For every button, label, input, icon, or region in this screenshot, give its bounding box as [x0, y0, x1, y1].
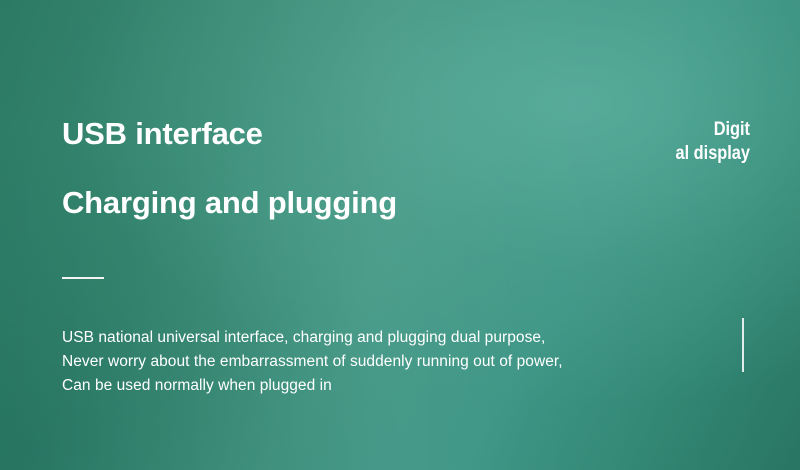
vertical-accent-rule — [742, 318, 744, 372]
body-copy-line-1: USB national universal interface, chargi… — [62, 326, 722, 350]
corner-label-line-1: Digit — [638, 118, 750, 142]
headline-group: USB interface Charging and plugging — [62, 118, 397, 218]
headline-secondary: Charging and plugging — [62, 187, 397, 218]
page-title: USB interface — [62, 118, 397, 149]
horizontal-divider — [62, 277, 104, 279]
body-copy: USB national universal interface, chargi… — [62, 326, 722, 398]
body-copy-line-3: Can be used normally when plugged in — [62, 374, 722, 398]
corner-label-line-2: al display — [638, 142, 750, 166]
product-banner: USB interface Charging and plugging Digi… — [0, 0, 800, 470]
body-copy-line-2: Never worry about the embarrassment of s… — [62, 350, 722, 374]
corner-label: Digit al display — [638, 118, 750, 166]
